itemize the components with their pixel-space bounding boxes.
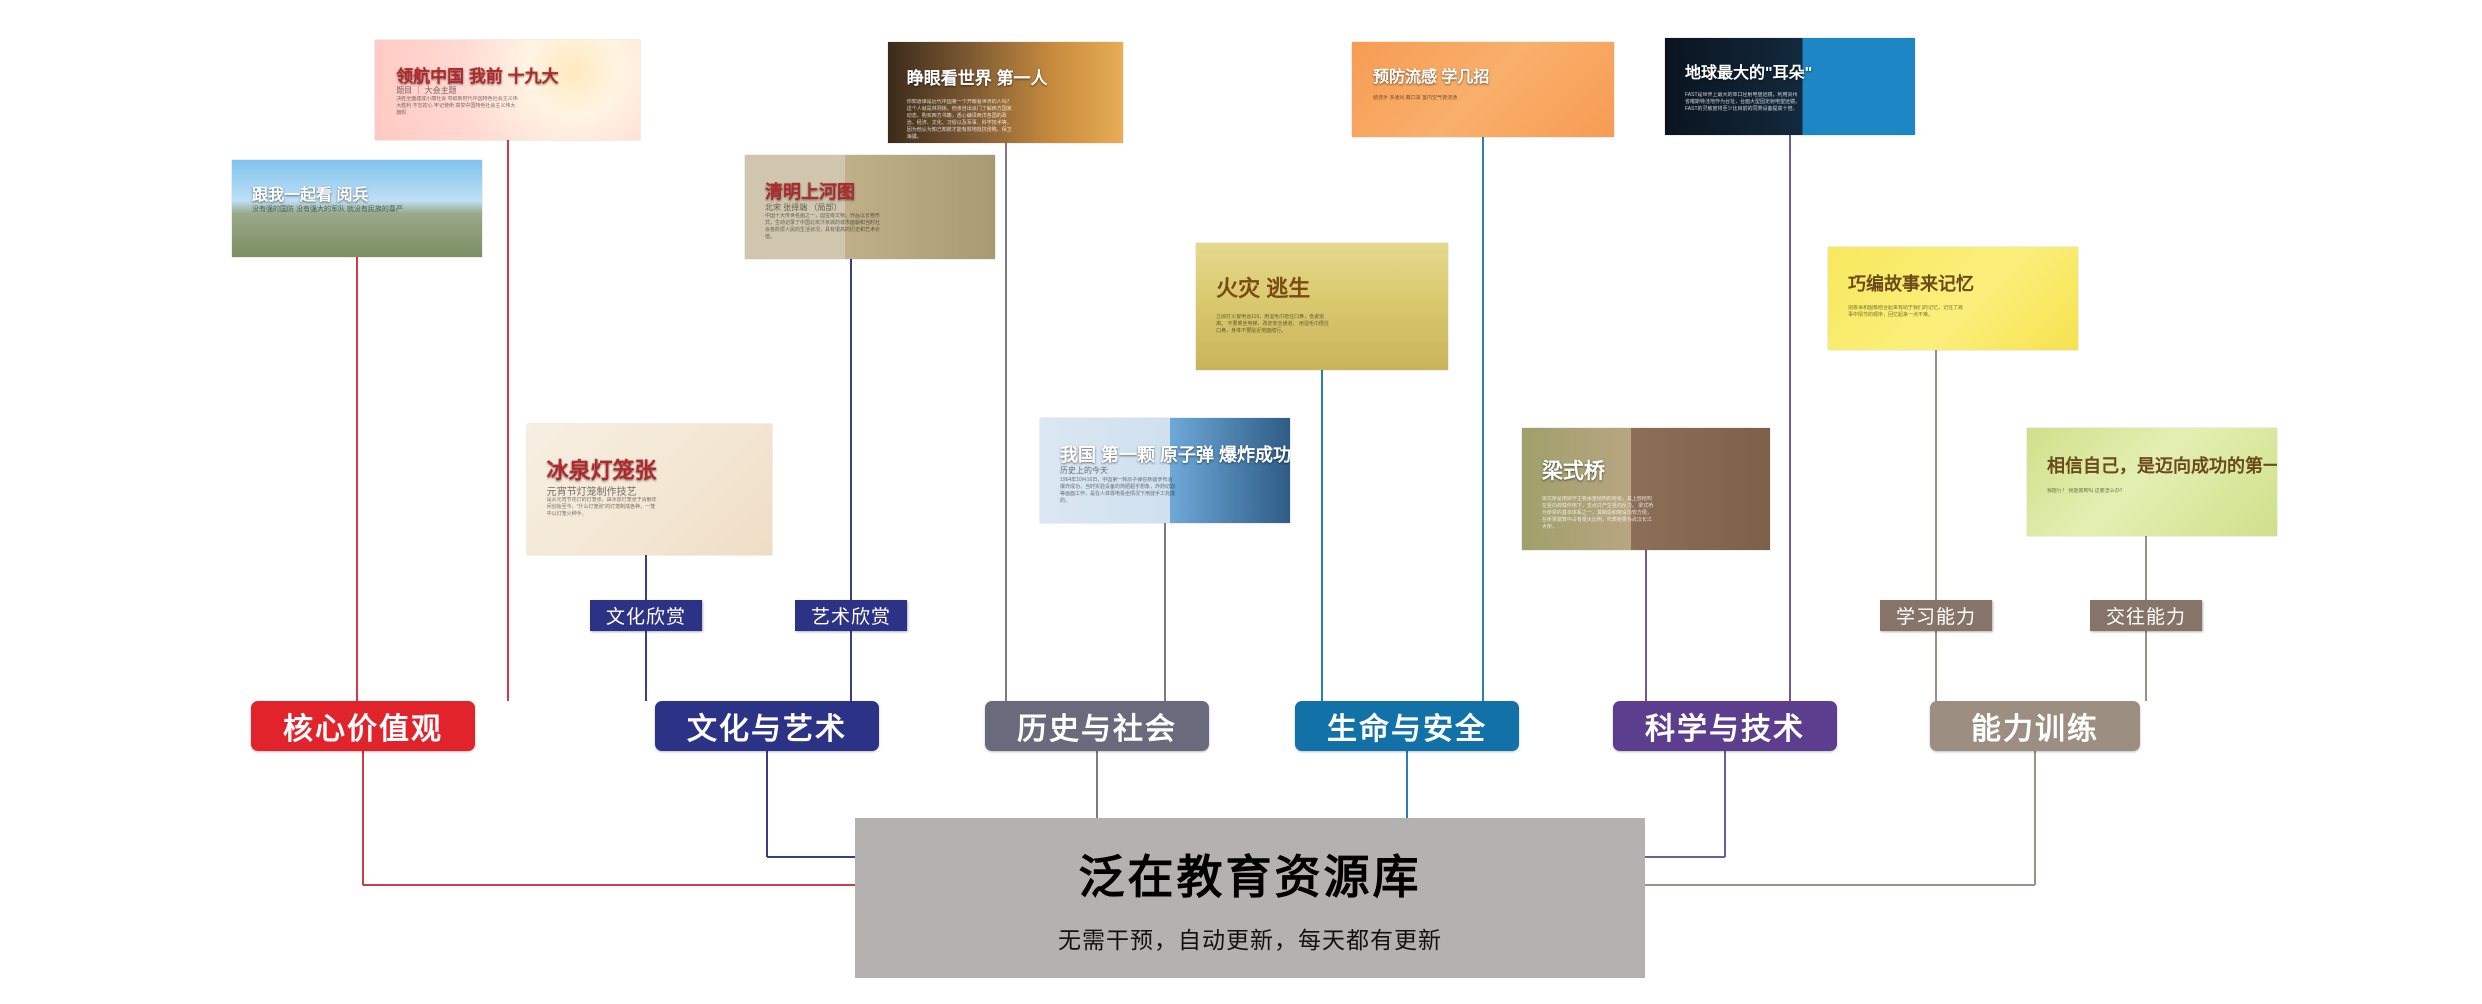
connector-line bbox=[1645, 856, 1725, 858]
connector-line bbox=[507, 140, 509, 701]
thumbnail-title: 地球最大的"耳朵" bbox=[1685, 59, 1812, 83]
thumbnail-art bbox=[1352, 42, 1614, 137]
connector-line bbox=[645, 555, 647, 600]
category-culture-art[interactable]: 文化与艺术 bbox=[655, 701, 879, 751]
thumbnail-title: 梁式桥 bbox=[1542, 455, 1605, 485]
thumbnail-military-parade[interactable]: 跟我一起看 阅兵没有强的国防 没有强大的军队 就没有民族的尊严 bbox=[232, 160, 482, 257]
center-card[interactable]: 泛在教育资源库 无需干预，自动更新，每天都有更新 bbox=[855, 818, 1645, 978]
subtag-culture-appreciation[interactable]: 文化欣赏 bbox=[590, 600, 702, 631]
connector-line bbox=[363, 884, 855, 886]
thumbnail-body: 勤洗手 多通风 戴口罩 室内空气要流通 bbox=[1373, 95, 1494, 102]
connector-line bbox=[1164, 523, 1166, 701]
connector-line bbox=[1406, 751, 1408, 818]
subtag-label: 文化欣赏 bbox=[606, 602, 686, 629]
category-label: 能力训练 bbox=[1971, 704, 2099, 748]
category-ability-training[interactable]: 能力训练 bbox=[1930, 701, 2140, 751]
connector-line bbox=[2145, 631, 2147, 701]
category-science-tech[interactable]: 科学与技术 bbox=[1613, 701, 1837, 751]
connector-line bbox=[1482, 137, 1484, 701]
thumbnail-title: 巧编故事来记忆 bbox=[1848, 270, 1974, 296]
thumbnail-subtitle: 元宵节灯笼制作技艺 bbox=[547, 483, 637, 498]
page-subtitle: 无需干预，自动更新，每天都有更新 bbox=[1058, 921, 1442, 955]
thumbnail-title: 领航中国 我前 十九大 bbox=[396, 62, 558, 87]
thumbnail-body: 梁式桥是用梁作主要承重结构的桥梁。其上部结构在竖向荷载作用下，支点只产生竖向反力… bbox=[1542, 496, 1656, 531]
thumbnail-fire-escape[interactable]: 火灾 逃生立即打火警电话119，用湿毛巾捂住口鼻，低姿逃离。 不要乘坐电梯，改走… bbox=[1196, 243, 1448, 370]
connector-line bbox=[766, 751, 768, 857]
page-title: 泛在教育资源库 bbox=[1079, 841, 1422, 907]
thumbnail-first-atomic-bomb[interactable]: 我国 第一颗 原子弹 爆炸成功历史上的今天1964年10月16日，中国第一颗原子… bbox=[1040, 418, 1290, 523]
connector-line bbox=[2145, 536, 2147, 600]
category-label: 生命与安全 bbox=[1327, 704, 1487, 748]
thumbnail-subtitle: 没有强的国防 没有强大的军队 就没有民族的尊严 bbox=[252, 204, 403, 214]
thumbnail-title: 冰泉灯笼张 bbox=[547, 453, 657, 485]
connector-line bbox=[1645, 550, 1647, 701]
category-label: 核心价值观 bbox=[283, 704, 443, 748]
subtag-label: 交往能力 bbox=[2106, 602, 2186, 629]
thumbnail-art bbox=[1828, 247, 2078, 350]
thumbnail-body: 1964年10月16日，中国第一颗原子弹在新疆罗布泊爆炸成功，当时实验设备的简陋… bbox=[1060, 477, 1175, 505]
thumbnail-believe-yourself[interactable]: 相信自己，是迈向成功的第一步。我能行！ 我能做到吗 这要怎么办？ bbox=[2027, 428, 2277, 536]
connector-line bbox=[362, 751, 364, 885]
thumbnail-flu-prevention[interactable]: 预防流感 学几招勤洗手 多通风 戴口罩 室内空气要流通 bbox=[1352, 42, 1614, 137]
thumbnail-cpc-19th-congress[interactable]: 领航中国 我前 十九大题目 ｜ 大会主题决胜全面建成小康社会 夺取新时代中国特色… bbox=[375, 40, 640, 140]
thumbnail-story-memory[interactable]: 巧编故事来记忆把故事和图像结合起来有助于我们的记忆，记住了故事中情节的顺序，回忆… bbox=[1828, 247, 2078, 350]
thumbnail-lin-zexu[interactable]: 睁眼看世界 第一人你知道谁是近代中国第一个开眼看世界的人吗？这个人就是林则徐。他… bbox=[888, 42, 1123, 143]
connector-line bbox=[2034, 751, 2036, 885]
subtag-social-ability[interactable]: 交往能力 bbox=[2090, 600, 2202, 631]
category-label: 文化与艺术 bbox=[687, 704, 847, 748]
thumbnail-title: 睁眼看世界 第一人 bbox=[907, 64, 1048, 89]
thumbnail-body: 立即打火警电话119，用湿毛巾捂住口鼻，低姿逃离。 不要乘坐电梯，改走安全通道。… bbox=[1216, 314, 1332, 335]
thumbnail-body: 中国十大传世名画之一，国宝级文物。作品以长卷形式，生动记录了中国北宋汴京城的城市… bbox=[765, 213, 880, 241]
subtag-label: 艺术欣赏 bbox=[811, 602, 891, 629]
category-label: 历史与社会 bbox=[1017, 704, 1177, 748]
connector-line bbox=[1935, 631, 1937, 701]
connector-line bbox=[1096, 751, 1098, 818]
thumbnail-title: 我国 第一颗 原子弹 爆炸成功 bbox=[1060, 441, 1290, 467]
thumbnail-art bbox=[1522, 428, 1770, 550]
connector-line bbox=[1724, 751, 1726, 857]
thumbnail-title: 清明上河图 bbox=[765, 178, 855, 204]
thumbnail-lantern-zhang[interactable]: 冰泉灯笼张元宵节灯笼制作技艺是从元宵节花灯的灯笼张，由冰泉灯笼张于清朝年间创始至… bbox=[527, 424, 772, 555]
connector-line bbox=[1935, 350, 1937, 600]
thumbnail-subtitle: 题目 ｜ 大会主题 bbox=[396, 85, 456, 96]
thumbnail-title: 火灾 逃生 bbox=[1216, 271, 1310, 303]
thumbnail-title: 跟我一起看 阅兵 bbox=[252, 181, 368, 205]
thumbnail-body: 我能行！ 我能做到吗 这要怎么办？ bbox=[2047, 488, 2162, 495]
category-label: 科学与技术 bbox=[1645, 704, 1805, 748]
thumbnail-art bbox=[2027, 428, 2277, 536]
connector-line bbox=[1005, 143, 1007, 701]
mindmap-canvas: 领航中国 我前 十九大题目 ｜ 大会主题决胜全面建成小康社会 夺取新时代中国特色… bbox=[0, 0, 2482, 1004]
connector-line bbox=[356, 257, 358, 701]
subtag-label: 学习能力 bbox=[1896, 602, 1976, 629]
subtag-learning-ability[interactable]: 学习能力 bbox=[1880, 600, 1992, 631]
thumbnail-art bbox=[1196, 243, 1448, 370]
connector-line bbox=[850, 259, 852, 600]
connector-line bbox=[1645, 884, 2035, 886]
thumbnail-body: 决胜全面建成小康社会 夺取新时代中国特色社会主义伟大胜利 不忘初心 牢记使命 高… bbox=[396, 96, 518, 117]
thumbnail-body: 把故事和图像结合起来有助于我们的记忆，记住了故事中情节的顺序，回忆起来一点不难。 bbox=[1848, 305, 1963, 319]
thumbnail-body: 是从元宵节花灯的灯笼张，由冰泉灯笼张于清朝年间创始至今，"什么灯笼张"的灯笼制成… bbox=[547, 497, 660, 518]
subtag-art-appreciation[interactable]: 艺术欣赏 bbox=[795, 600, 907, 631]
thumbnail-subtitle: 北宋 张择端 （局部） bbox=[765, 202, 841, 213]
thumbnail-title: 相信自己，是迈向成功的第一步。 bbox=[2047, 452, 2277, 478]
connector-line bbox=[1789, 135, 1791, 701]
thumbnail-qingming-scroll[interactable]: 清明上河图北宋 张择端 （局部）中国十大传世名画之一，国宝级文物。作品以长卷形式… bbox=[745, 155, 995, 259]
thumbnail-art bbox=[1665, 38, 1915, 135]
connector-line bbox=[645, 631, 647, 701]
connector-line bbox=[850, 631, 852, 701]
category-core-values[interactable]: 核心价值观 bbox=[251, 701, 475, 751]
thumbnail-subtitle: 历史上的今天 bbox=[1060, 465, 1108, 476]
connector-line bbox=[767, 856, 855, 858]
thumbnail-fast-telescope[interactable]: 地球最大的"耳朵"FAST是世界上最大的单口径射电望远镜，利用贵州省喀斯特洼地作… bbox=[1665, 38, 1915, 135]
category-history-society[interactable]: 历史与社会 bbox=[985, 701, 1209, 751]
thumbnail-body: FAST是世界上最大的单口径射电望远镜，利用贵州省喀斯特洼地作为台址，台面大型固… bbox=[1685, 92, 1800, 113]
thumbnail-title: 预防流感 学几招 bbox=[1373, 63, 1489, 87]
category-life-safety[interactable]: 生命与安全 bbox=[1295, 701, 1519, 751]
thumbnail-beam-bridge[interactable]: 梁式桥梁式桥是用梁作主要承重结构的桥梁。其上部结构在竖向荷载作用下，支点只产生竖… bbox=[1522, 428, 1770, 550]
thumbnail-body: 你知道谁是近代中国第一个开眼看世界的人吗？这个人就是林则徐。他亲自出派门了解西方… bbox=[907, 99, 1015, 141]
connector-line bbox=[1321, 370, 1323, 701]
